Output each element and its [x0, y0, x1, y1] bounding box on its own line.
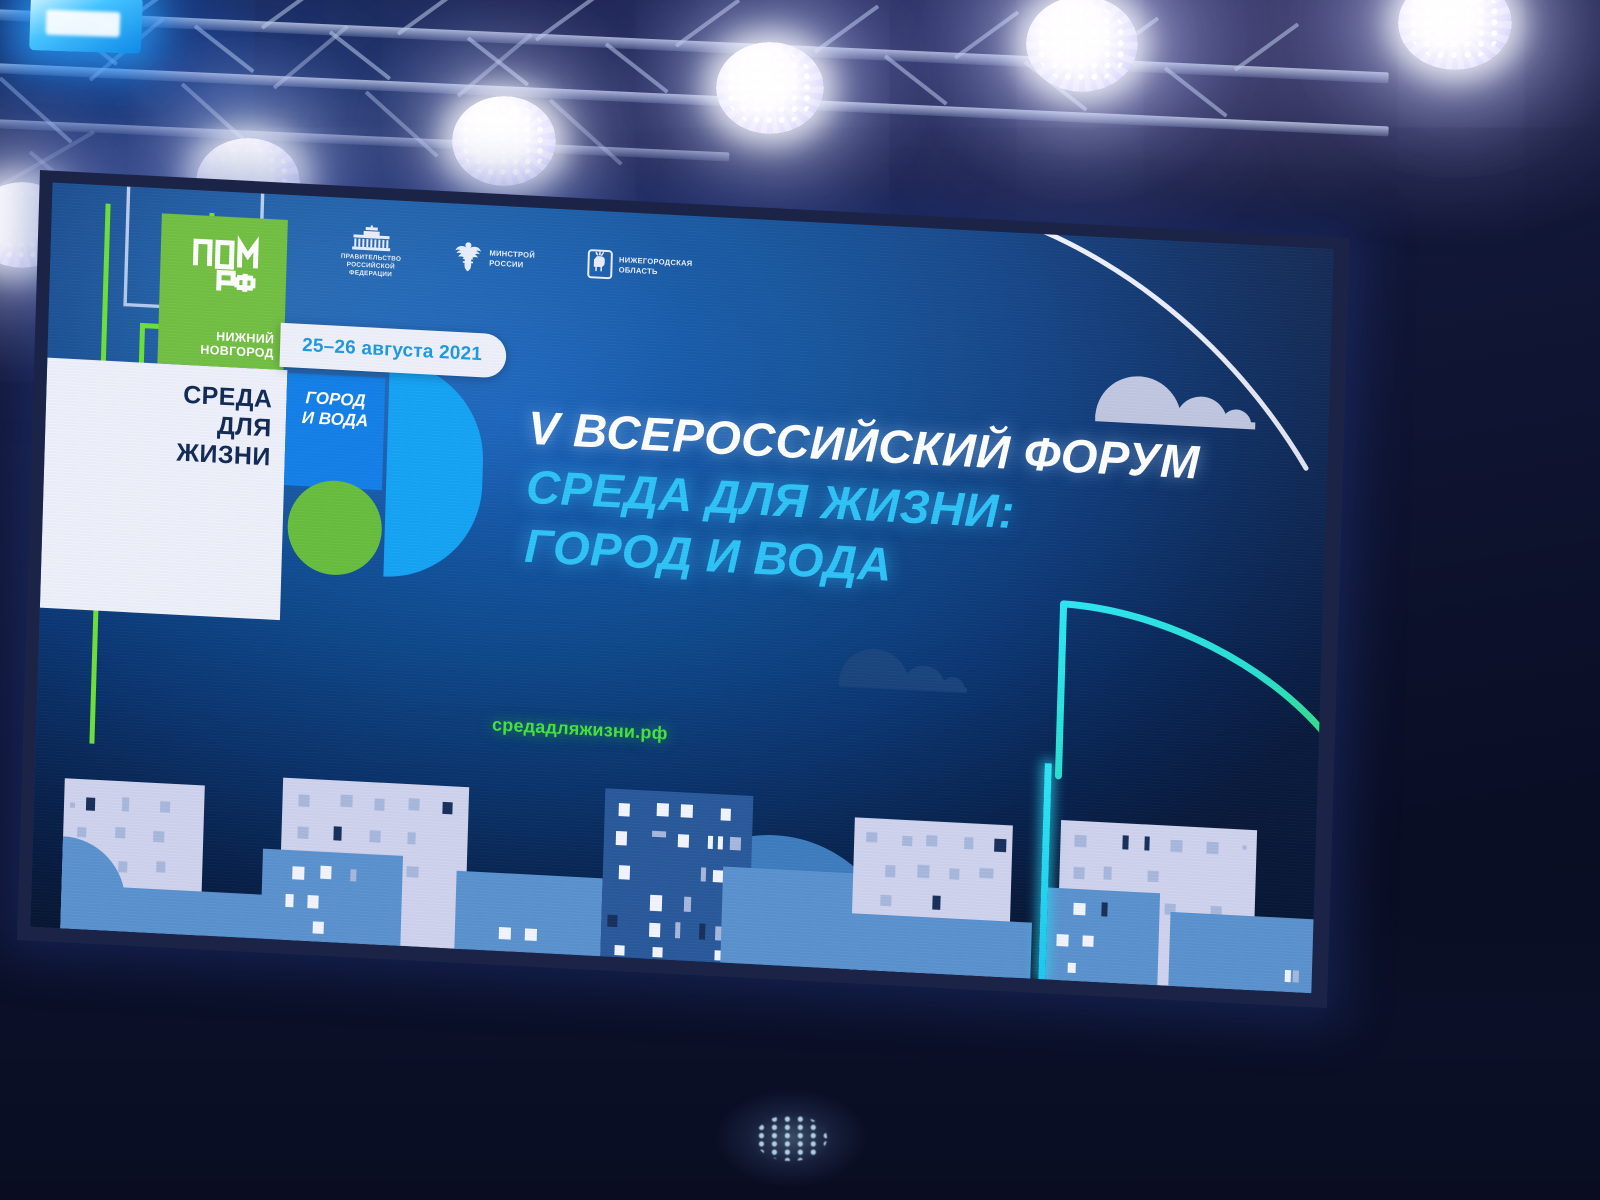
- led-dot-matrix: [460, 103, 547, 179]
- auditorium-background: НИЖНИЙ НОВГОРОД: [0, 0, 1600, 1200]
- theme-blue-box: ГОРОД И ВОДА: [284, 373, 385, 490]
- partner-logos: ПРАВИТЕЛЬСТВО РОССИЙСКОЙ ФЕДЕРАЦИИ МИНСТ…: [340, 224, 693, 295]
- building: [1045, 887, 1160, 985]
- stage-led-light-6: [1398, 0, 1512, 70]
- half-circle-shape: [383, 360, 485, 581]
- stage-led-light-3: [452, 96, 556, 186]
- website-url: средадляжизни.рф: [492, 714, 668, 744]
- partner-logo-nizhny-region: НИЖЕГОРОДСКАЯ ОБЛАСТЬ: [586, 248, 692, 283]
- partner-label-nizhny-region: НИЖЕГОРОДСКАЯ ОБЛАСТЬ: [619, 255, 693, 278]
- stage-led-light-4: [716, 42, 824, 134]
- led-dot-matrix: [1035, 4, 1129, 85]
- building: [454, 871, 602, 957]
- screen-surface: НИЖНИЙ НОВГОРОД: [30, 183, 1333, 994]
- date-badge-text: 25–26 августа 2021: [302, 335, 483, 366]
- double-eagle-coat-of-arms-icon: [453, 238, 484, 276]
- domrf-logo: НИЖНИЙ НОВГОРОД: [157, 213, 288, 370]
- building: [260, 849, 403, 946]
- reflection-dots: [755, 1115, 827, 1161]
- floor-light-reflection: [716, 1090, 866, 1186]
- partner-label-minstroy: МИНСТРОЙ РОССИИ: [489, 248, 535, 269]
- domrf-city-label: НИЖНИЙ НОВГОРОД: [158, 326, 275, 360]
- domrf-wordmark-icon: [189, 231, 277, 297]
- blue-wash-light-panel: [29, 0, 143, 54]
- partner-label-government: ПРАВИТЕЛЬСТВО РОССИЙСКОЙ ФЕДЕРАЦИИ: [340, 253, 401, 280]
- led-dot-matrix: [725, 49, 816, 126]
- brand-box-text: СРЕДА ДЛЯ ЖИЗНИ: [44, 374, 273, 473]
- cloud-dark: [839, 656, 968, 693]
- stage-led-light-5: [1026, 0, 1138, 92]
- panel-highlight: [45, 9, 120, 37]
- partner-logo-government: ПРАВИТЕЛЬСТВО РОССИЙСКОЙ ФЕДЕРАЦИИ: [340, 224, 402, 280]
- nizhny-novgorod-deer-emblem-icon: [586, 248, 613, 279]
- partner-logo-minstroy: МИНСТРОЙ РОССИИ: [453, 238, 536, 278]
- stage-led-screen: НИЖНИЙ НОВГОРОД: [17, 170, 1350, 1008]
- building: [1168, 912, 1330, 993]
- slide-headline: V ВСЕРОССИЙСКИЙ ФОРУМ СРЕДА ДЛЯ ЖИЗНИ: Г…: [524, 400, 1201, 608]
- cyan-green-curve-decoration: [1013, 574, 1333, 891]
- government-building-icon: [351, 224, 392, 252]
- brand-white-box: СРЕДА ДЛЯ ЖИЗНИ: [40, 358, 288, 620]
- building: [830, 912, 1032, 978]
- theme-box-text: ГОРОД И ВОДА: [301, 388, 369, 432]
